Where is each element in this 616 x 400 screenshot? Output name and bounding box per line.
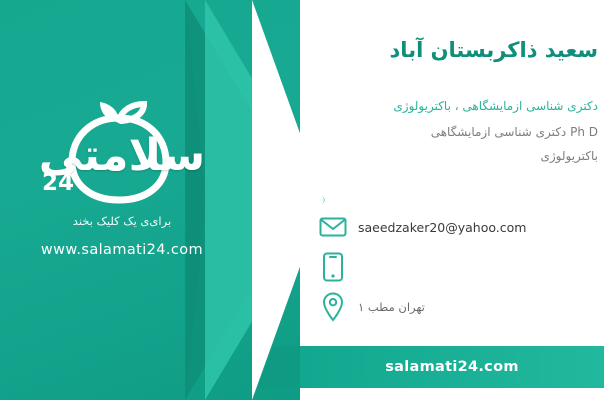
logo-website: www.salamati24.com: [12, 242, 232, 258]
footer-site: salamati24.com: [385, 359, 519, 375]
envelope-icon: [318, 212, 348, 242]
card-content: سعید ذاکربستان آباد دکتری شناسی ازمایشگا…: [300, 0, 616, 400]
person-degree-line1: Ph D دکتری شناسی ازمایشگاهی: [318, 122, 598, 144]
left-teal-panel: سلامتی 24 برای‌ی یک کلیک بخند www.salama…: [0, 0, 300, 400]
contact-address-value: تهران مطب ۱: [358, 300, 598, 314]
person-degree-line2: باکتریولوژی: [318, 146, 598, 168]
contact-row-email[interactable]: saeedzaker20@yahoo.com: [318, 212, 598, 242]
contact-email-value: saeedzaker20@yahoo.com: [358, 220, 598, 235]
logo-mark: سلامتی 24: [12, 96, 232, 216]
business-card: سلامتی 24 برای‌ی یک کلیک بخند www.salama…: [0, 0, 616, 400]
person-specialty: دکتری شناسی ازمایشگاهی ، باکتریولوژی: [318, 97, 598, 115]
logo-number: 24: [42, 170, 74, 196]
logo-tagline: برای‌ی یک کلیک بخند: [12, 214, 232, 228]
contact-row-phone[interactable]: [318, 252, 598, 282]
contact-row-address[interactable]: تهران مطب ۱: [318, 292, 598, 322]
footer-bar[interactable]: salamati24.com: [300, 346, 604, 388]
phone-icon: [318, 252, 348, 282]
location-pin-icon: [318, 292, 348, 322]
person-name: سعید ذاکربستان آباد: [318, 38, 598, 62]
brand-logo: سلامتی 24 برای‌ی یک کلیک بخند www.salama…: [12, 96, 232, 286]
